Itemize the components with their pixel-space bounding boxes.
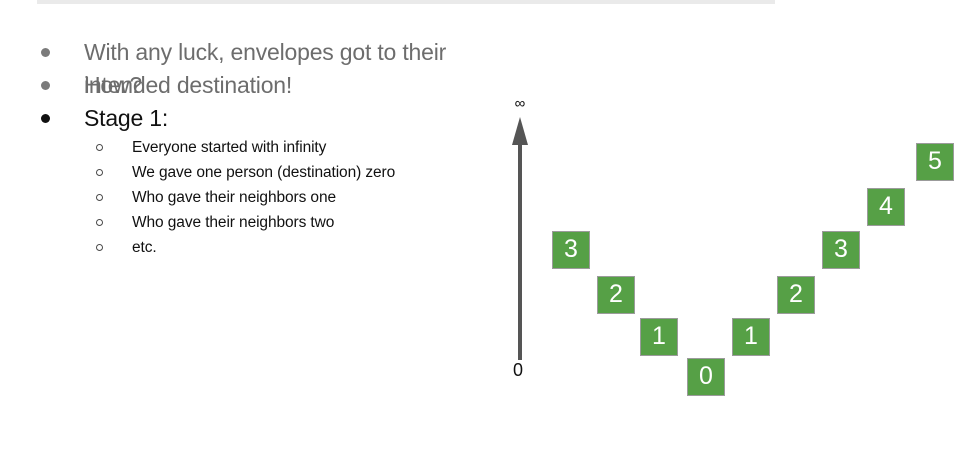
distance-node-box: 4 — [867, 188, 905, 226]
sub-bullet-item: etc. — [0, 235, 500, 260]
bullet-list: With any luck, envelopes got to their in… — [0, 36, 500, 260]
axis-zero-label: 0 — [508, 360, 528, 380]
bullet-text: Everyone started with infinity — [132, 135, 326, 160]
distance-node-box: 5 — [916, 143, 954, 181]
distance-node-box: 1 — [732, 318, 770, 356]
distance-node-box: 2 — [777, 276, 815, 314]
top-edge-bar — [37, 0, 775, 4]
distance-node-box: 3 — [822, 231, 860, 269]
axis-arrowhead-icon — [512, 117, 528, 145]
distance-node-box: 1 — [640, 318, 678, 356]
bullet-item: How? — [0, 69, 500, 102]
hollow-bullet-icon — [96, 144, 103, 151]
distance-node-box: 2 — [597, 276, 635, 314]
distance-node-box: 0 — [687, 358, 725, 396]
hollow-bullet-icon — [96, 194, 103, 201]
bullet-item: Stage 1: — [0, 102, 500, 135]
axis-infinity-label: ∞ — [510, 96, 530, 111]
filled-bullet-icon — [41, 48, 50, 57]
sub-bullet-item: Who gave their neighbors two — [0, 210, 500, 235]
hollow-bullet-icon — [96, 219, 103, 226]
distance-node-box: 3 — [552, 231, 590, 269]
hollow-bullet-icon — [96, 244, 103, 251]
bullet-text: etc. — [132, 235, 157, 260]
axis-line — [518, 143, 522, 360]
filled-bullet-icon — [41, 81, 50, 90]
slide-canvas: With any luck, envelopes got to their in… — [0, 0, 967, 450]
hollow-bullet-icon — [96, 169, 103, 176]
bullet-text: Stage 1: — [84, 102, 168, 135]
bullet-text: We gave one person (destination) zero — [132, 160, 395, 185]
filled-bullet-icon — [41, 114, 50, 123]
sub-bullet-item: We gave one person (destination) zero — [0, 160, 500, 185]
sub-bullet-item: Everyone started with infinity — [0, 135, 500, 160]
bullet-text: Who gave their neighbors two — [132, 210, 334, 235]
distance-vector-diagram: ∞ 0 321012345 — [490, 90, 967, 410]
bullet-text: Who gave their neighbors one — [132, 185, 336, 210]
bullet-text: How? — [84, 69, 142, 102]
sub-bullet-item: Who gave their neighbors one — [0, 185, 500, 210]
bullet-item: With any luck, envelopes got to their in… — [0, 36, 500, 69]
